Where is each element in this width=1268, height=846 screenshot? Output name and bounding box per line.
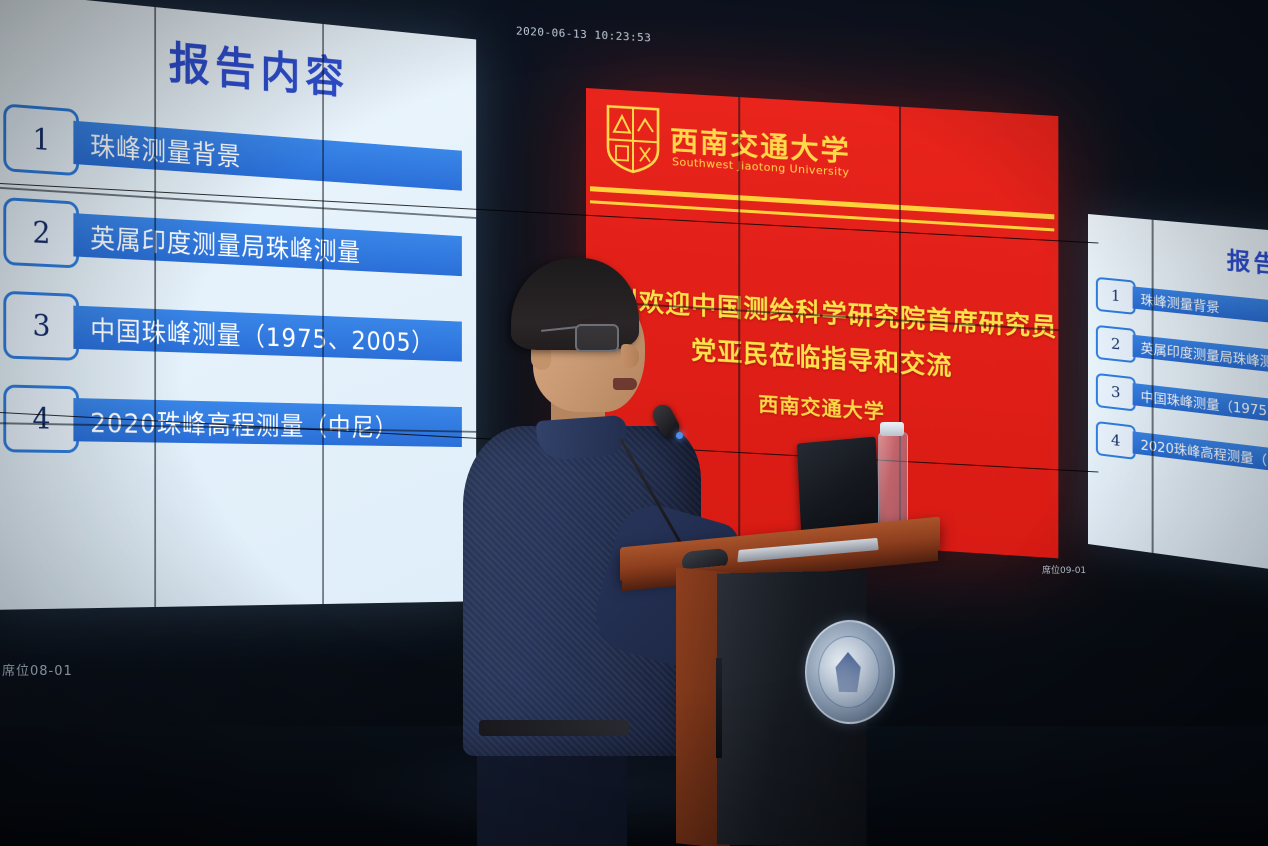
toc-label: 2020珠峰高程测量（中尼） (73, 398, 461, 447)
toc-number: 3 (1096, 373, 1136, 412)
bezel-seam (738, 97, 740, 538)
right-video-wall-slide: 报告内容 1 珠峰测量背景 2 英属印度测量局珠峰测量 3 中国珠峰测量（197… (1088, 214, 1268, 581)
toc-number: 4 (1096, 421, 1136, 460)
toc-number: 2 (3, 197, 79, 268)
bezel-seam (1152, 220, 1154, 553)
toc-row: 2 英属印度测量局珠峰测量 (3, 197, 462, 287)
seat-label-left: 席位08-01 (2, 660, 73, 679)
bezel-seam (154, 7, 156, 607)
toc-row: 4 2020珠峰高程测量（中 (1096, 421, 1268, 486)
seat-label-right: 席位09-01 (1042, 563, 1086, 576)
toc-number: 4 (3, 384, 79, 453)
toc-label: 英属印度测量局珠峰测量 (73, 213, 461, 276)
toc-label: 珠峰测量背景 (73, 121, 461, 191)
photo-scene: 报告内容 1 珠峰测量背景 2 英属印度测量局珠峰测量 3 中国珠峰测量（197… (0, 0, 1268, 846)
lectern-podium (620, 508, 950, 846)
left-video-wall-slide: 报告内容 1 珠峰测量背景 2 英属印度测量局珠峰测量 3 中国珠峰测量（197… (0, 0, 476, 610)
university-crest-icon (604, 103, 662, 177)
university-seal-icon (805, 618, 895, 727)
toc-number: 1 (3, 103, 79, 176)
toc-row: 4 2020珠峰高程测量（中尼） (3, 384, 462, 458)
toc-label: 中国珠峰测量（1975、2005） (73, 306, 461, 362)
speaker-nose (621, 344, 639, 368)
bezel-seam (322, 24, 324, 604)
microphone-floor-stand (716, 658, 722, 758)
speaker-mouth (613, 378, 637, 390)
right-slide-title: 报告内容 (1096, 229, 1268, 286)
water-bottle-cap (880, 422, 904, 436)
toc-row: 3 中国珠峰测量（1975、2005） (3, 291, 462, 373)
speaker-belt (479, 720, 629, 736)
toc-number: 3 (3, 291, 79, 361)
toc-number: 1 (1096, 277, 1136, 315)
toc-number: 2 (1096, 325, 1136, 363)
glasses-icon (575, 324, 619, 352)
microphone-led-indicator (676, 432, 683, 439)
